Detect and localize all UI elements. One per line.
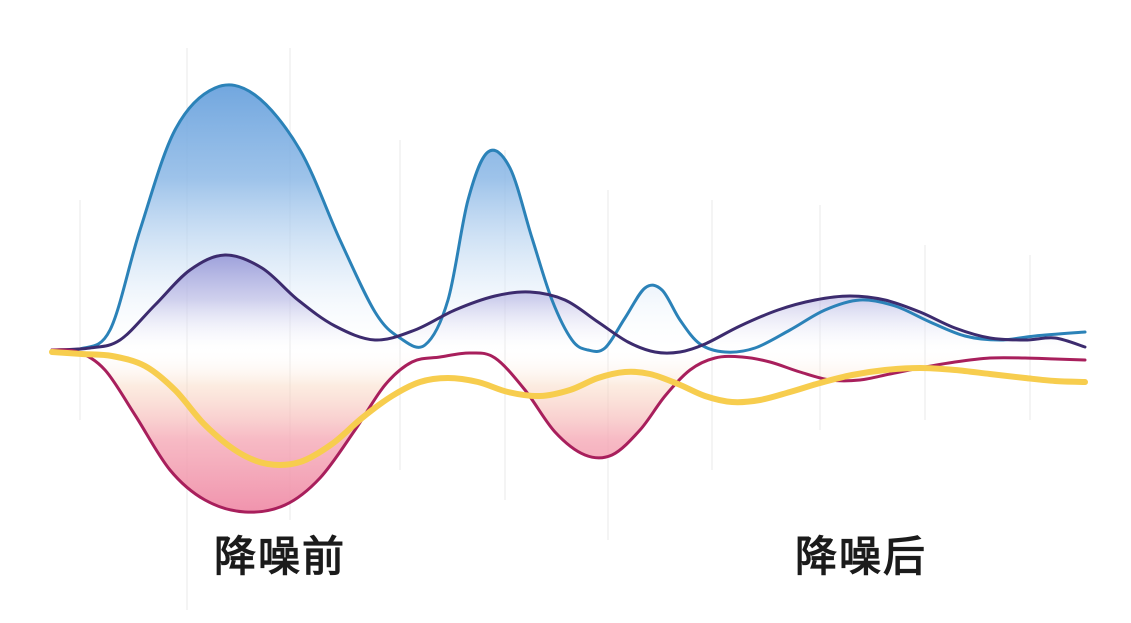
waveform-canvas [0, 0, 1131, 623]
label-after-noise-reduction: 降噪后 [795, 536, 927, 578]
waveform-illustration: 降噪前 降噪后 [0, 0, 1131, 623]
purple-mid-curve-fill [52, 255, 1085, 353]
wave-fill-group [52, 85, 1085, 512]
label-before-noise-reduction: 降噪前 [214, 536, 346, 578]
